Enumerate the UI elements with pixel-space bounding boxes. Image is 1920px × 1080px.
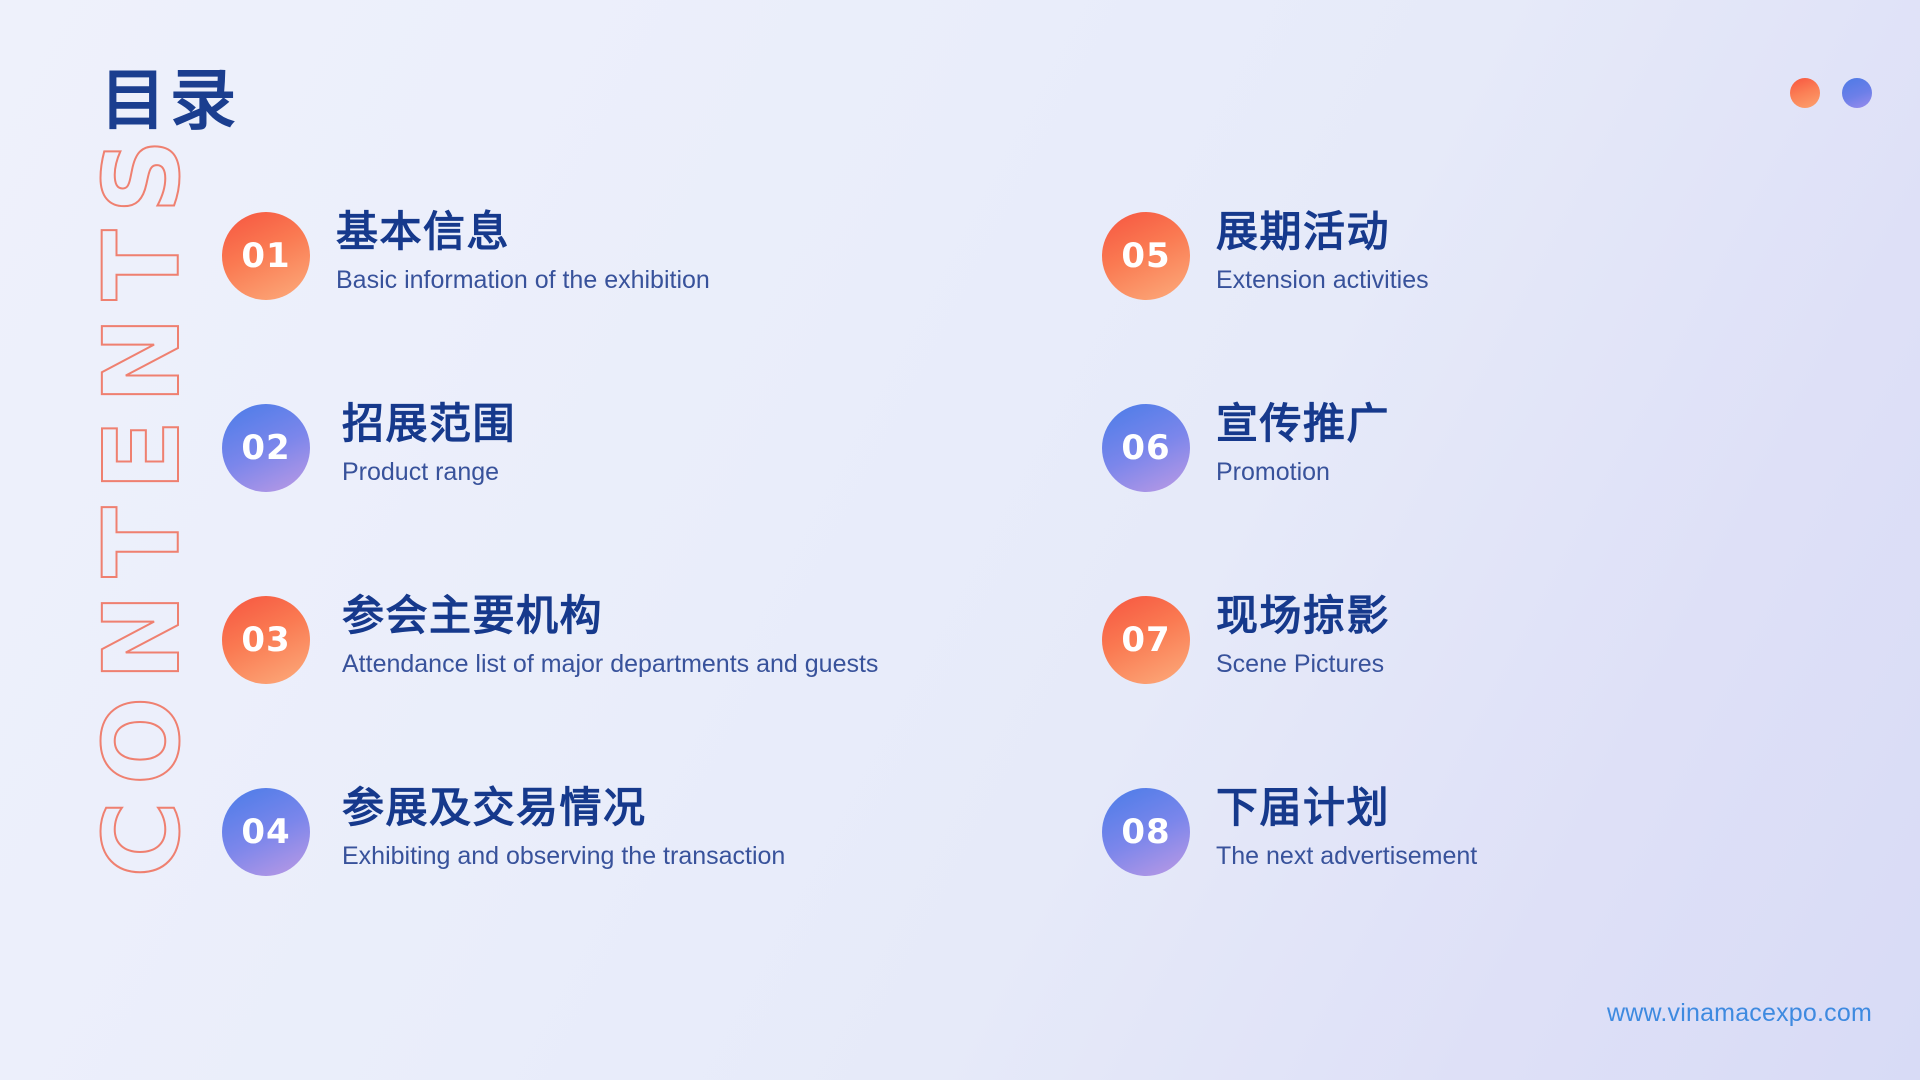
toc-number-badge: 06 [1102, 404, 1190, 492]
toc-number-badge: 01 [222, 212, 310, 300]
toc-item-subtitle: The next advertisement [1216, 841, 1477, 871]
toc-text-block: 宣传推广 Promotion [1216, 400, 1390, 487]
toc-text-block: 下届计划 The next advertisement [1216, 784, 1477, 871]
toc-item-title: 宣传推广 [1216, 400, 1390, 447]
toc-item-subtitle: Attendance list of major departments and… [342, 649, 878, 679]
toc-item-title: 基本信息 [336, 208, 710, 255]
coral-dot-icon [1790, 78, 1820, 108]
toc-text-block: 展期活动 Extension activities [1216, 208, 1429, 295]
toc-item-subtitle: Extension activities [1216, 265, 1429, 295]
toc-text-block: 基本信息 Basic information of the exhibition [336, 208, 710, 295]
toc-number-badge: 03 [222, 596, 310, 684]
toc-number-badge: 02 [222, 404, 310, 492]
toc-item-subtitle: Basic information of the exhibition [336, 265, 710, 295]
toc-item-title: 参展及交易情况 [342, 784, 785, 831]
toc-item-subtitle: Promotion [1216, 457, 1390, 487]
toc-text-block: 现场掠影 Scene Pictures [1216, 592, 1390, 679]
toc-number-badge: 08 [1102, 788, 1190, 876]
toc-text-block: 参会主要机构 Attendance list of major departme… [336, 592, 878, 679]
vertical-contents-label: CONTENTS [90, 100, 194, 900]
toc-item-02[interactable]: 02 招展范围 Product range [222, 400, 1102, 592]
toc-number-badge: 05 [1102, 212, 1190, 300]
toc-item-subtitle: Scene Pictures [1216, 649, 1390, 679]
toc-item-06[interactable]: 06 宣传推广 Promotion [1102, 400, 1782, 592]
toc-item-subtitle: Product range [342, 457, 516, 487]
toc-number-badge: 07 [1102, 596, 1190, 684]
toc-number-badge: 04 [222, 788, 310, 876]
toc-item-03[interactable]: 03 参会主要机构 Attendance list of major depar… [222, 592, 1102, 784]
footer-website-url[interactable]: www.vinamacexpo.com [1607, 999, 1872, 1028]
toc-item-title: 展期活动 [1216, 208, 1429, 255]
toc-item-01[interactable]: 01 基本信息 Basic information of the exhibit… [222, 208, 1102, 400]
toc-item-08[interactable]: 08 下届计划 The next advertisement [1102, 784, 1782, 976]
decorative-dots [1790, 78, 1872, 108]
toc-item-title: 参会主要机构 [342, 592, 878, 639]
toc-item-title: 现场掠影 [1216, 592, 1390, 639]
toc-item-subtitle: Exhibiting and observing the transaction [342, 841, 785, 871]
toc-item-04[interactable]: 04 参展及交易情况 Exhibiting and observing the … [222, 784, 1102, 976]
blue-dot-icon [1842, 78, 1872, 108]
toc-text-block: 招展范围 Product range [336, 400, 516, 487]
toc-text-block: 参展及交易情况 Exhibiting and observing the tra… [336, 784, 785, 871]
toc-item-title: 下届计划 [1216, 784, 1477, 831]
table-of-contents: 01 基本信息 Basic information of the exhibit… [222, 208, 1782, 976]
toc-item-title: 招展范围 [342, 400, 516, 447]
toc-item-05[interactable]: 05 展期活动 Extension activities [1102, 208, 1782, 400]
toc-item-07[interactable]: 07 现场掠影 Scene Pictures [1102, 592, 1782, 784]
